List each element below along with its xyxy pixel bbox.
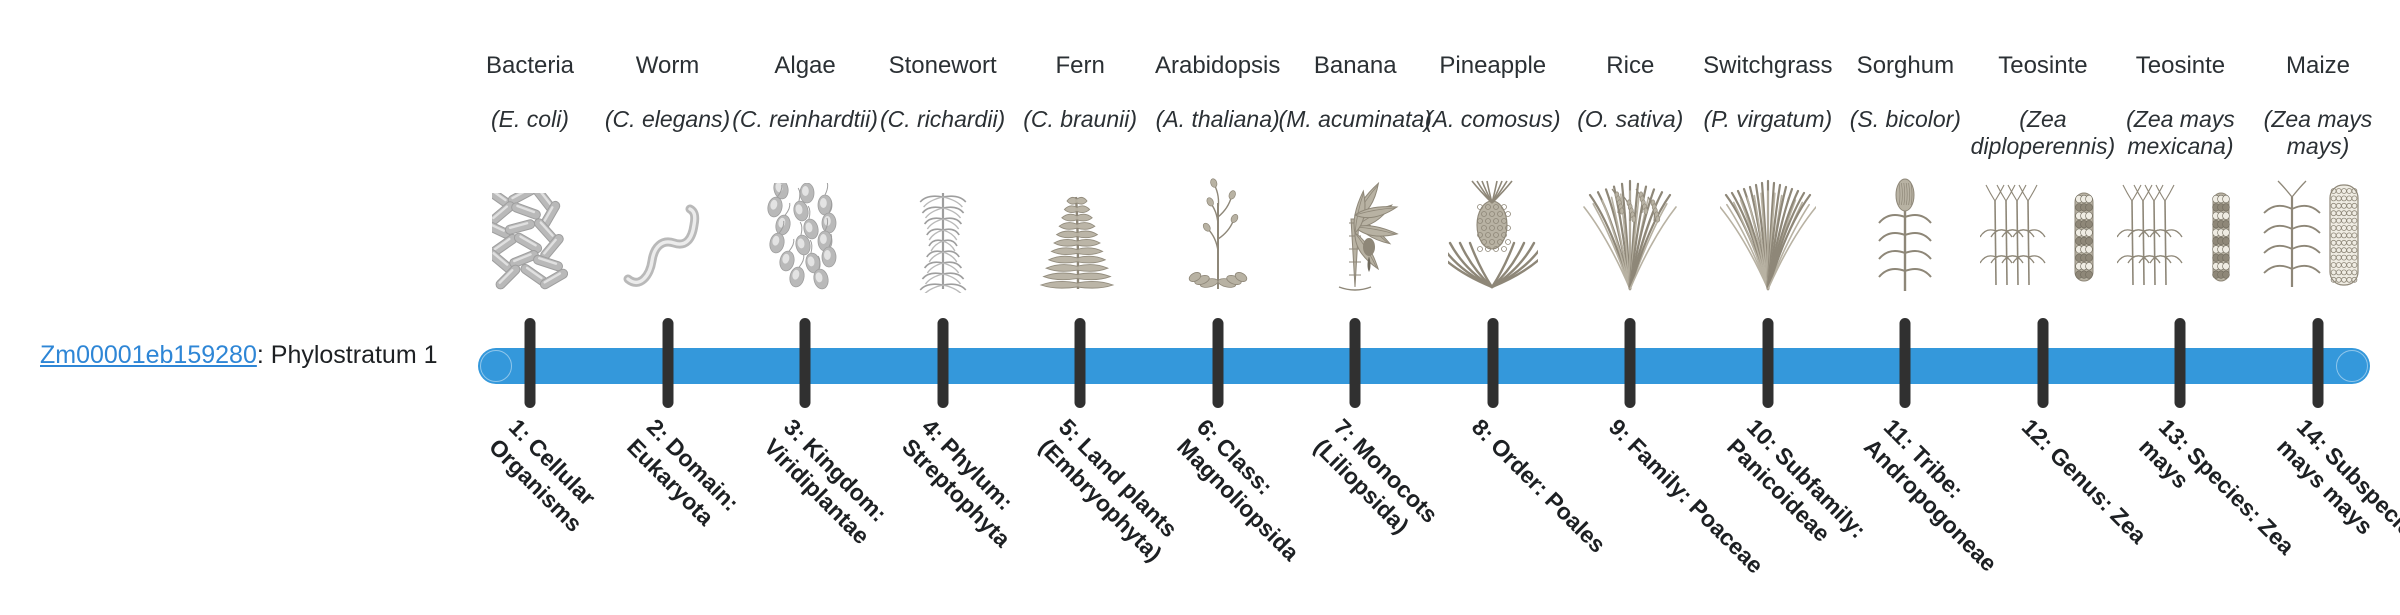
bar-left-cap-icon <box>480 350 512 382</box>
phylostratum-tick <box>1075 318 1086 408</box>
species-column: Maize(Zea mays mays) 14: Subspecies: Zea… <box>2233 0 2400 580</box>
species-common-name: Arabidopsis <box>1155 52 1280 80</box>
phylostratum-tick <box>2037 318 2048 408</box>
gene-id-link[interactable]: Zm00001eb159280 <box>40 341 257 369</box>
species-common-name: Sorghum <box>1857 52 1954 80</box>
gene-separator: : <box>257 341 271 369</box>
phylostratum-bar <box>478 348 2370 384</box>
bacteria-rods-icon <box>492 168 568 293</box>
switchgrass-clump-icon <box>1720 168 1816 293</box>
phylostratum-tick <box>1487 318 1498 408</box>
nematode-worm-icon <box>618 168 718 293</box>
bar-right-cap-icon <box>2336 350 2368 382</box>
teosinte-diploperennis-icon <box>1980 168 2106 293</box>
sorghum-plant-icon <box>1862 168 1948 293</box>
species-common-name: Teosinte <box>1998 52 2087 80</box>
phylostratum-tick <box>662 318 673 408</box>
phylostratum-tick <box>2313 318 2324 408</box>
teosinte-mexicana-icon <box>2117 168 2243 293</box>
phylostratum-tick <box>937 318 948 408</box>
species-common-name: Teosinte <box>2136 52 2225 80</box>
species-common-name: Pineapple <box>1439 52 1546 80</box>
banana-tree-icon <box>1305 168 1405 293</box>
species-scientific-name: (Zea mays mays) <box>2243 106 2393 160</box>
species-common-name: Fern <box>1055 52 1104 80</box>
species-common-name: Banana <box>1314 52 1397 80</box>
species-common-name: Maize <box>2286 52 2350 80</box>
stonewort-alga-icon <box>903 168 983 293</box>
phylostratum-tick <box>1900 318 1911 408</box>
phylostratum-tick <box>1350 318 1361 408</box>
phylostratum-timeline: Zm00001eb159280: Phylostratum 1 Bacteria… <box>0 0 2400 580</box>
phylostratum-value: Phylostratum 1 <box>271 341 438 369</box>
species-common-name: Algae <box>774 52 835 80</box>
species-common-name: Bacteria <box>486 52 574 80</box>
phylostratum-tick <box>1212 318 1223 408</box>
arabidopsis-plant-icon <box>1178 168 1258 293</box>
species-columns: Bacteria(E. coli) <box>478 0 2370 580</box>
phylostratum-tick <box>1625 318 1636 408</box>
algae-cells-icon <box>767 168 843 293</box>
pineapple-plant-icon <box>1448 168 1538 293</box>
maize-plant-ear-icon <box>2258 168 2378 293</box>
phylostratum-tick <box>800 318 811 408</box>
phylostratum-tick <box>2175 318 2186 408</box>
phylostratum-tick <box>1762 318 1773 408</box>
species-common-name: Stonewort <box>889 52 997 80</box>
rice-plant-icon <box>1582 168 1678 293</box>
gene-phylostratum-label: Zm00001eb159280: Phylostratum 1 <box>40 340 460 370</box>
species-common-name: Worm <box>636 52 700 80</box>
fern-frond-icon <box>1034 168 1126 293</box>
species-common-name: Switchgrass <box>1703 52 1832 80</box>
species-common-name: Rice <box>1606 52 1654 80</box>
phylostratum-tick <box>525 318 536 408</box>
